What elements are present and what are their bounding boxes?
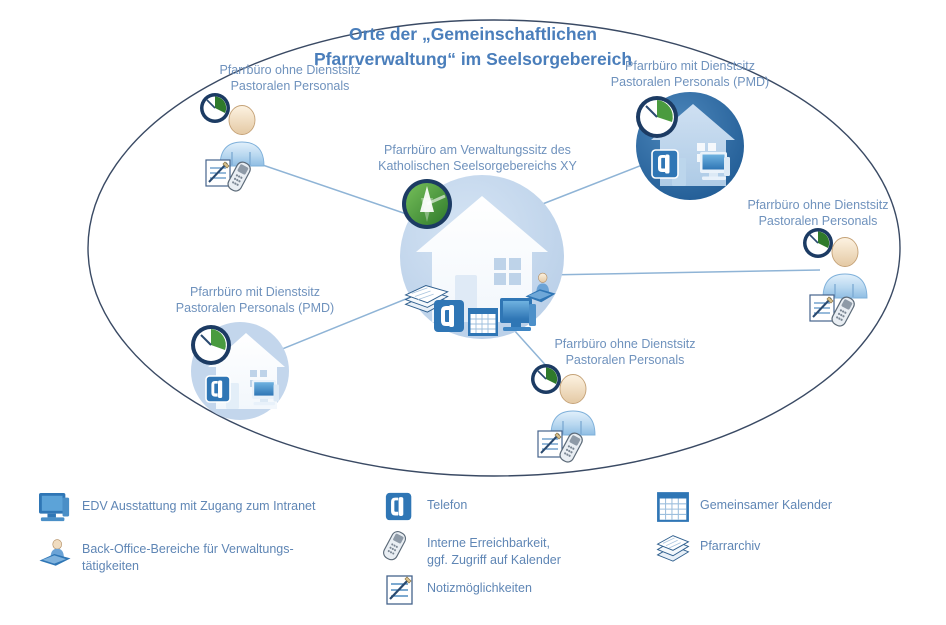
calendar-icon: [656, 491, 690, 523]
legend-item-edv-ausstattung[interactable]: EDV Ausstattung mit Zugang zum Intranet: [38, 492, 315, 524]
clock-icon: [531, 364, 561, 394]
legend-label: Gemeinsamer Kalender: [700, 491, 832, 514]
clock-icon: [636, 96, 678, 138]
label-line2: Pastoralen Personals: [525, 352, 725, 368]
label-line1: Pfarrbüro am Verwaltungssitz des: [355, 142, 600, 158]
notepad-icon: [538, 431, 562, 457]
label-line1: Pfarrbüro ohne Dienstsitz: [190, 62, 390, 78]
label-line1: Pfarrbüro ohne Dienstsitz: [718, 197, 918, 213]
label-pfarrbuero-am-verwaltungssitz-hub: Pfarrbüro am Verwaltungssitz des Katholi…: [355, 142, 600, 174]
label-pfarrbuero-ohne-dienstsitz-top-left: Pfarrbüro ohne Dienstsitz Pastoralen Per…: [190, 62, 390, 94]
node-pfarrbuero-mit-dienstsitz-pmd-bottom-left[interactable]: [191, 322, 289, 420]
calendar-icon: [468, 308, 498, 336]
clock-icon: [200, 93, 230, 123]
label-pfarrbuero-ohne-dienstsitz-bottom: Pfarrbüro ohne Dienstsitz Pastoralen Per…: [525, 336, 725, 368]
legend-label: Pfarrarchiv: [700, 532, 760, 555]
label-line1: Pfarrbüro mit Dienstsitz: [140, 284, 370, 300]
notepad-icon: [206, 160, 230, 186]
notepad-icon: [810, 295, 834, 321]
label-pfarrbuero-ohne-dienstsitz-right: Pfarrbüro ohne Dienstsitz Pastoralen Per…: [718, 197, 918, 229]
compass-clock-icon: [402, 179, 452, 229]
legend-item-telefon[interactable]: Telefon: [383, 491, 467, 523]
archive-icon: [656, 532, 690, 564]
node-pfarrbuero-am-verwaltungssitz-hub[interactable]: [400, 175, 564, 339]
label-line1: Pfarrbüro ohne Dienstsitz: [525, 336, 725, 352]
mobile-phone-icon: [383, 529, 417, 561]
clock-icon: [191, 325, 231, 365]
telephone-icon: [434, 300, 464, 332]
legend-item-interne-erreichbarkeit[interactable]: Interne Erreichbarkeit, ggf. Zugriff auf…: [383, 529, 561, 569]
telephone-icon: [383, 491, 417, 523]
legend-label: Telefon: [427, 491, 467, 514]
diagram-title-line1: Orte der „Gemeinschaftlichen: [0, 22, 946, 47]
legend-label: Interne Erreichbarkeit, ggf. Zugriff auf…: [427, 529, 561, 569]
label-line2: Pastoralen Personals (PMD): [575, 74, 805, 90]
legend-label: EDV Ausstattung mit Zugang zum Intranet: [82, 492, 315, 515]
label-line2: Katholischen Seelsorgebereichs XY: [355, 158, 600, 174]
telephone-icon: [206, 376, 230, 402]
telephone-icon: [652, 150, 678, 178]
notepad-icon: [383, 574, 417, 606]
legend-label: Back-Office-Bereiche für Verwaltungs- tä…: [82, 535, 294, 575]
legend-item-pfarrarchiv[interactable]: Pfarrarchiv: [656, 532, 760, 564]
clock-icon: [803, 228, 833, 258]
computer-icon: [38, 492, 72, 524]
legend-item-back-office[interactable]: Back-Office-Bereiche für Verwaltungs- tä…: [38, 535, 294, 575]
label-line1: Pfarrbüro mit Dienstsitz: [575, 58, 805, 74]
label-line2: Pastoralen Personals (PMD): [140, 300, 370, 316]
label-pfarrbuero-mit-dienstsitz-pmd-bottom-left: Pfarrbüro mit Dienstsitz Pastoralen Pers…: [140, 284, 370, 316]
label-pfarrbuero-mit-dienstsitz-pmd-top-right: Pfarrbüro mit Dienstsitz Pastoralen Pers…: [575, 58, 805, 90]
node-pfarrbuero-mit-dienstsitz-pmd-top-right[interactable]: [636, 92, 744, 200]
label-line2: Pastoralen Personals: [718, 213, 918, 229]
back-office-icon: [38, 535, 72, 567]
legend-item-notizmoeglichkeiten[interactable]: Notizmöglichkeiten: [383, 574, 532, 606]
label-line2: Pastoralen Personals: [190, 78, 390, 94]
legend-label: Notizmöglichkeiten: [427, 574, 532, 597]
diagram-canvas: Orte der „Gemeinschaftlichen Pfarrverwal…: [0, 0, 946, 625]
legend-item-gemeinsamer-kalender[interactable]: Gemeinsamer Kalender: [656, 491, 832, 523]
